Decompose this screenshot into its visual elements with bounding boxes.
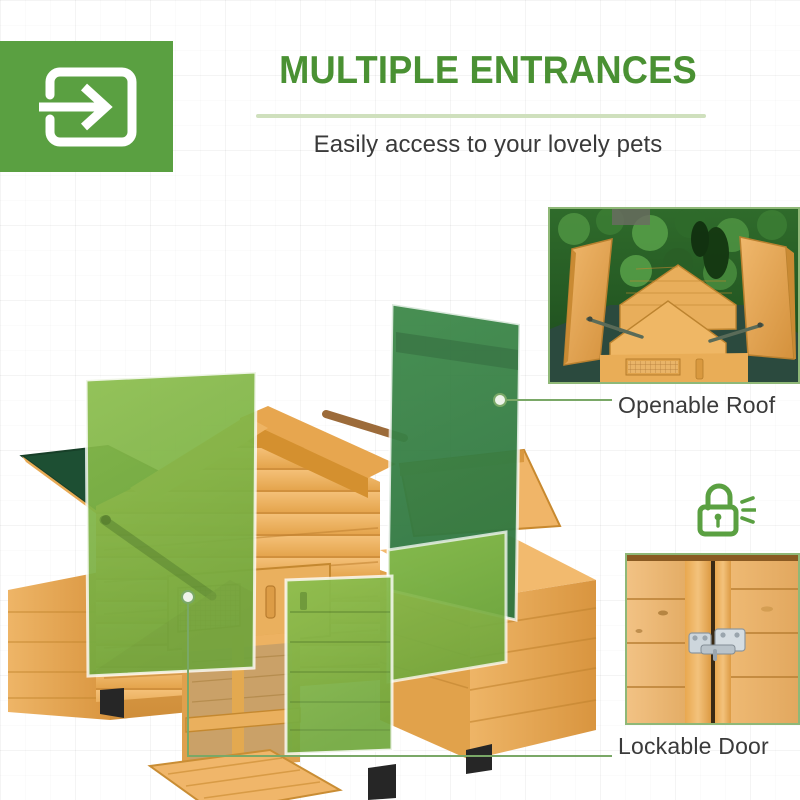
title-divider — [256, 114, 706, 118]
callout-line-lockable-door-horizontal — [187, 755, 612, 757]
infographic-canvas: MULTIPLE ENTRANCES Easily access to your… — [0, 0, 800, 800]
callout-line-lockable-door-vertical — [187, 604, 189, 756]
page-title: MULTIPLE ENTRANCES — [274, 48, 702, 94]
callout-label-lockable-door: Lockable Door — [618, 731, 769, 761]
page-subtitle: Easily access to your lovely pets — [258, 128, 718, 162]
product-image — [0, 250, 620, 800]
enter-arrow-icon — [0, 41, 173, 172]
callout-label-openable-roof: Openable Roof — [618, 390, 775, 420]
open-padlock-icon — [694, 482, 756, 540]
callout-dot-lockable-door[interactable] — [181, 590, 195, 604]
inset-photo-openable-roof — [548, 207, 800, 384]
inset-photo-lockable-door — [625, 553, 800, 725]
callout-dot-openable-roof[interactable] — [493, 393, 507, 407]
callout-line-openable-roof — [507, 399, 612, 401]
